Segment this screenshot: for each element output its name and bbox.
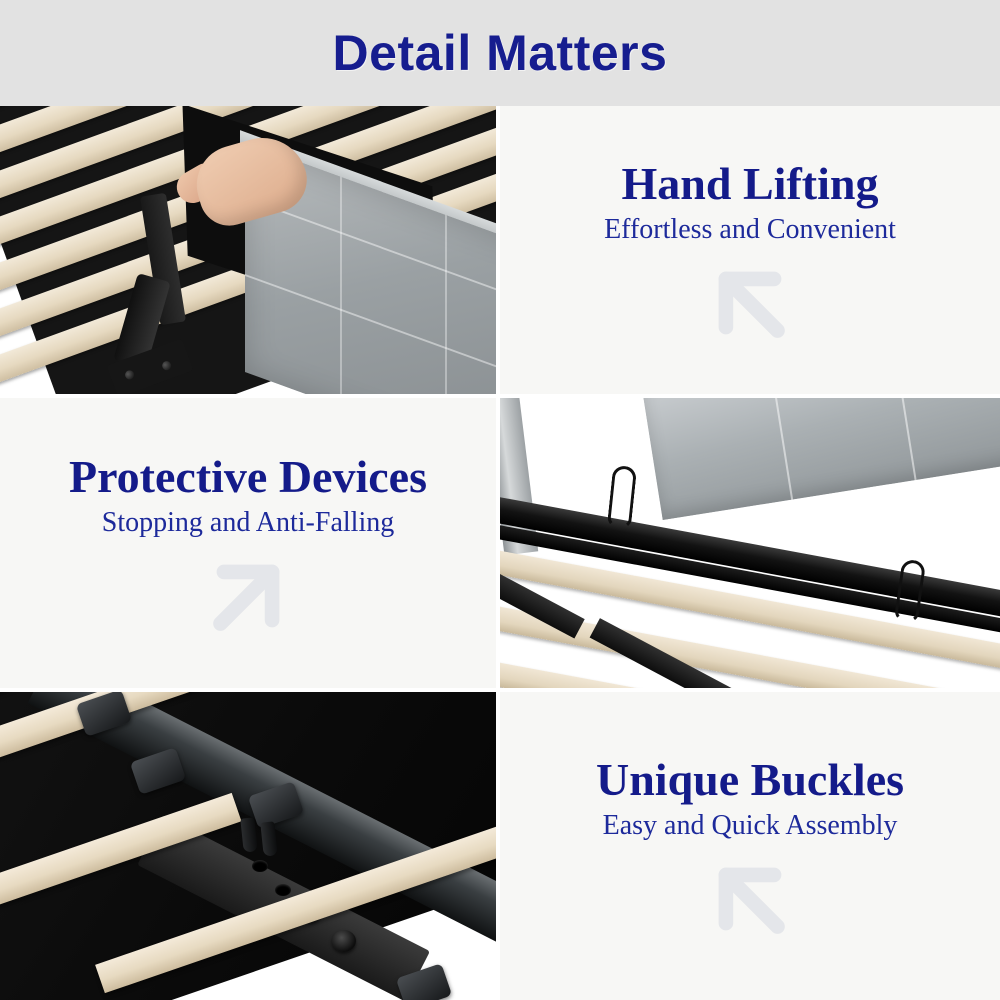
photo-protective-devices-canvas — [500, 398, 1000, 688]
upholstery-seam — [340, 177, 342, 394]
bolt — [161, 360, 173, 372]
bolt-hole — [252, 860, 268, 872]
text-panel-protective-devices: Protective Devices Stopping and Anti-Fal… — [0, 398, 496, 688]
upholstery-seam — [894, 398, 916, 480]
wire-stopper-buckle — [607, 465, 637, 529]
panel-subtitle-unique-buckles: Easy and Quick Assembly — [603, 811, 898, 842]
photo-unique-buckles-canvas — [0, 692, 496, 1000]
bolt-nut — [332, 930, 356, 952]
upholstery-seam — [771, 398, 793, 500]
text-panel-unique-buckles: Unique Buckles Easy and Quick Assembly — [500, 692, 1000, 1000]
panel-heading-unique-buckles: Unique Buckles — [596, 756, 904, 804]
bolt-hole — [275, 884, 291, 896]
text-panel-hand-lifting: Hand Lifting Effortless and Convenient — [500, 106, 1000, 394]
arrow-up-left-icon — [707, 260, 793, 346]
photo-hand-lifting — [0, 106, 496, 394]
panel-subtitle-hand-lifting: Effortless and Convenient — [604, 215, 896, 246]
panel-grid: Hand Lifting Effortless and Convenient P… — [0, 106, 1000, 1000]
bolt — [124, 369, 136, 381]
header-band: Detail Matters — [0, 0, 1000, 106]
upholstered-headboard — [642, 398, 1000, 520]
panel-subtitle-protective-devices: Stopping and Anti-Falling — [102, 508, 394, 539]
upholstery-seam — [445, 215, 447, 394]
photo-protective-devices — [500, 398, 1000, 688]
arrow-up-left-icon — [707, 856, 793, 942]
photo-hand-lifting-canvas — [0, 106, 496, 394]
panel-heading-hand-lifting: Hand Lifting — [622, 160, 879, 208]
photo-unique-buckles — [0, 692, 496, 1000]
arrow-up-right-icon — [205, 553, 291, 639]
panel-heading-protective-devices: Protective Devices — [69, 453, 427, 501]
infographic-page: Detail Matters — [0, 0, 1000, 1000]
page-title: Detail Matters — [333, 24, 668, 82]
